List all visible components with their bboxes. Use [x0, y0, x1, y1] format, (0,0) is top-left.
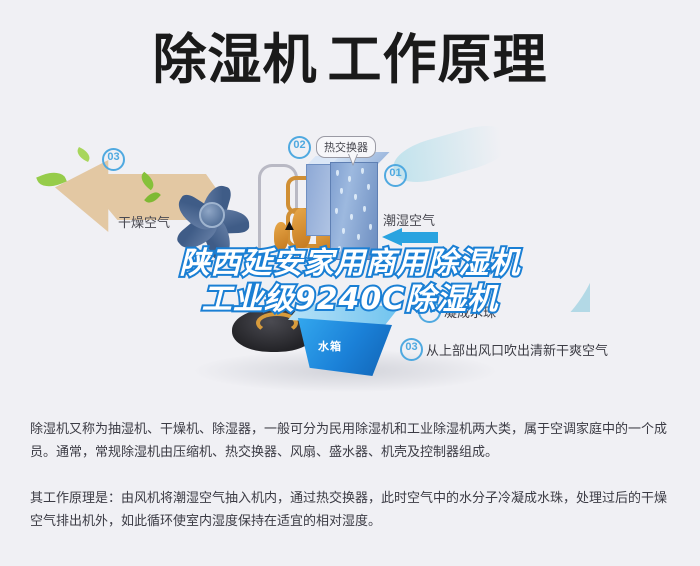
heat-exchanger-bubble: 热交换器 [316, 136, 376, 158]
water-tank-label: 水箱 [318, 338, 342, 354]
title-part-1: 除湿机 [153, 28, 318, 91]
title-part-2: 工作原理 [328, 28, 548, 91]
working-principle-diagram: 03 干燥空气 ➤ ▲ ▼ [0, 128, 700, 406]
badge-03-caption: 03 [400, 338, 423, 361]
page-title: 除湿机工作原理 [0, 30, 700, 90]
infographic-page: 除湿机工作原理 03 干燥空气 [0, 0, 700, 566]
body-paragraph-2: 其工作原理是：由风机将潮湿空气抽入机内，通过热交换器，此时空气中的水分子冷凝成水… [30, 487, 675, 533]
moist-air-inflow-arrow [382, 228, 438, 246]
caption-condense: 凝成水珠 [444, 302, 496, 321]
body-paragraph-1: 除湿机又称为抽湿机、干燥机、除湿器，一般可分为民用除湿机和工业除湿机两大类，属于… [30, 418, 675, 464]
heat-exchanger [330, 152, 382, 260]
badge-03-dry-air: 03 [102, 148, 125, 171]
badge-02-caption: 02 [418, 300, 441, 323]
fan-icon [163, 166, 268, 264]
bubble-tail [348, 154, 358, 166]
moist-air-label: 潮湿空气 [383, 210, 435, 229]
badge-02-heat-exchanger: 02 [288, 136, 311, 159]
water-tank: 水箱 [288, 304, 400, 380]
arrow-up-icon: ▲ [282, 218, 297, 233]
badge-01-moist-air: 01 [384, 164, 407, 187]
caption-outlet: 从上部出风口吹出清新干爽空气 [426, 340, 608, 359]
